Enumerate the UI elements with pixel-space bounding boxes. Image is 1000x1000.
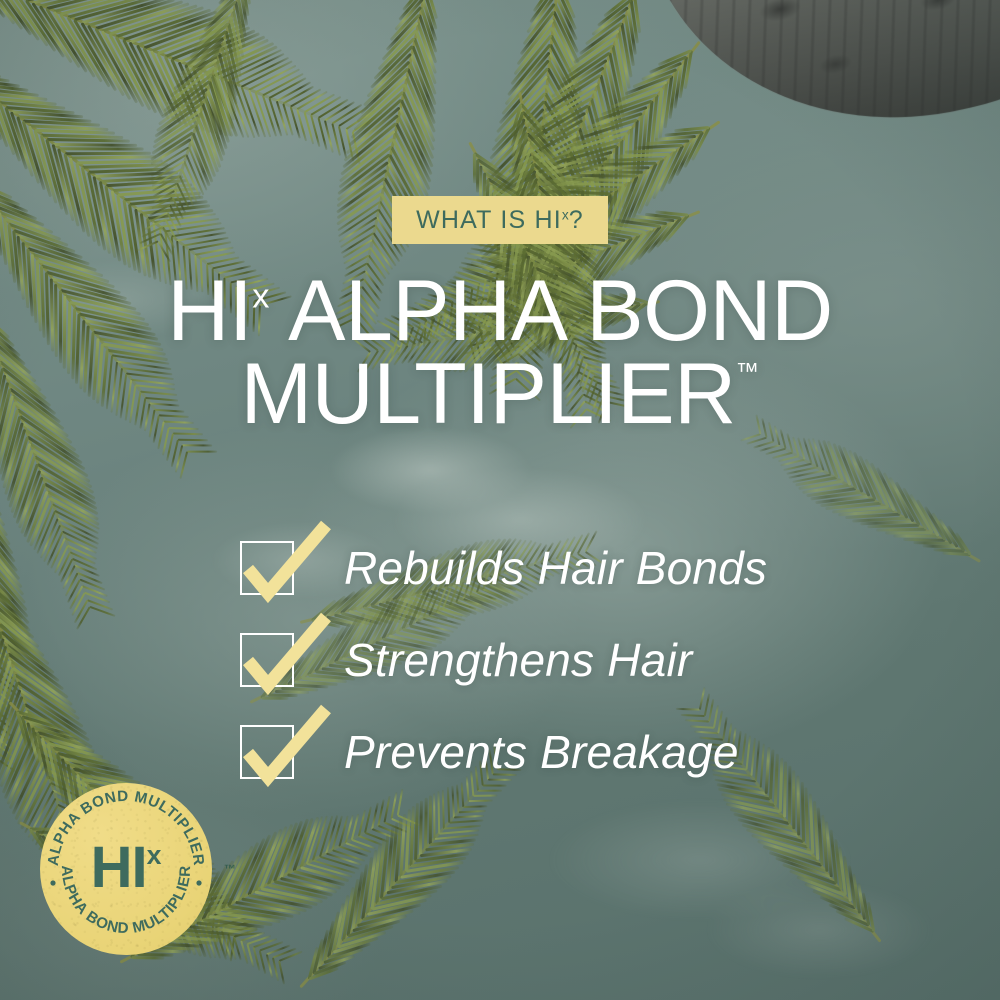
list-item: Prevents Breakage <box>240 706 960 798</box>
checkmark-icon <box>238 707 334 799</box>
list-item-label: Prevents Breakage <box>344 725 739 779</box>
checkbox-checked-icon <box>240 725 294 779</box>
headline-hi: HI <box>167 263 252 359</box>
checkbox-checked-icon <box>240 541 294 595</box>
seal-center-hi: HI <box>91 835 147 900</box>
trademark-icon: ™ <box>736 358 760 384</box>
headline-multiplier: MULTIPLIER <box>241 346 736 442</box>
list-item: Strengthens Hair <box>240 614 960 706</box>
benefits-list: Rebuilds Hair Bonds Strengthens Hair Pre… <box>240 522 960 798</box>
seal-trademark-icon: ™ <box>224 862 237 876</box>
headline-alpha-bond: ALPHA BOND <box>269 263 832 359</box>
headline-line-1: HIx ALPHA BOND <box>0 270 1000 353</box>
seal-center-superscript: x <box>147 840 162 870</box>
checkbox-checked-icon <box>240 633 294 687</box>
eyebrow-superscript: x <box>562 207 569 222</box>
seal-center-logo: HIx <box>40 839 212 897</box>
promo-poster: WHAT IS HIx? HIx ALPHA BOND MULTIPLIER™ … <box>0 0 1000 1000</box>
brand-seal-badge: ALPHA BOND MULTIPLIER ALPHA BOND MULTIPL… <box>40 783 212 955</box>
eyebrow-text-after: ? <box>569 206 584 234</box>
eyebrow-badge: WHAT IS HIx? <box>392 196 608 244</box>
eyebrow-label: WHAT IS HIx? <box>416 206 584 235</box>
checkmark-icon <box>238 523 334 615</box>
list-item-label: Rebuilds Hair Bonds <box>344 541 767 595</box>
eyebrow-text-before: WHAT IS HI <box>416 206 562 234</box>
headline-line-2: MULTIPLIER™ <box>0 353 1000 436</box>
checkmark-icon <box>238 615 334 707</box>
page-title: HIx ALPHA BOND MULTIPLIER™ <box>0 270 1000 437</box>
headline-superscript-x: x <box>252 277 269 315</box>
list-item: Rebuilds Hair Bonds <box>240 522 960 614</box>
list-item-label: Strengthens Hair <box>344 633 692 687</box>
